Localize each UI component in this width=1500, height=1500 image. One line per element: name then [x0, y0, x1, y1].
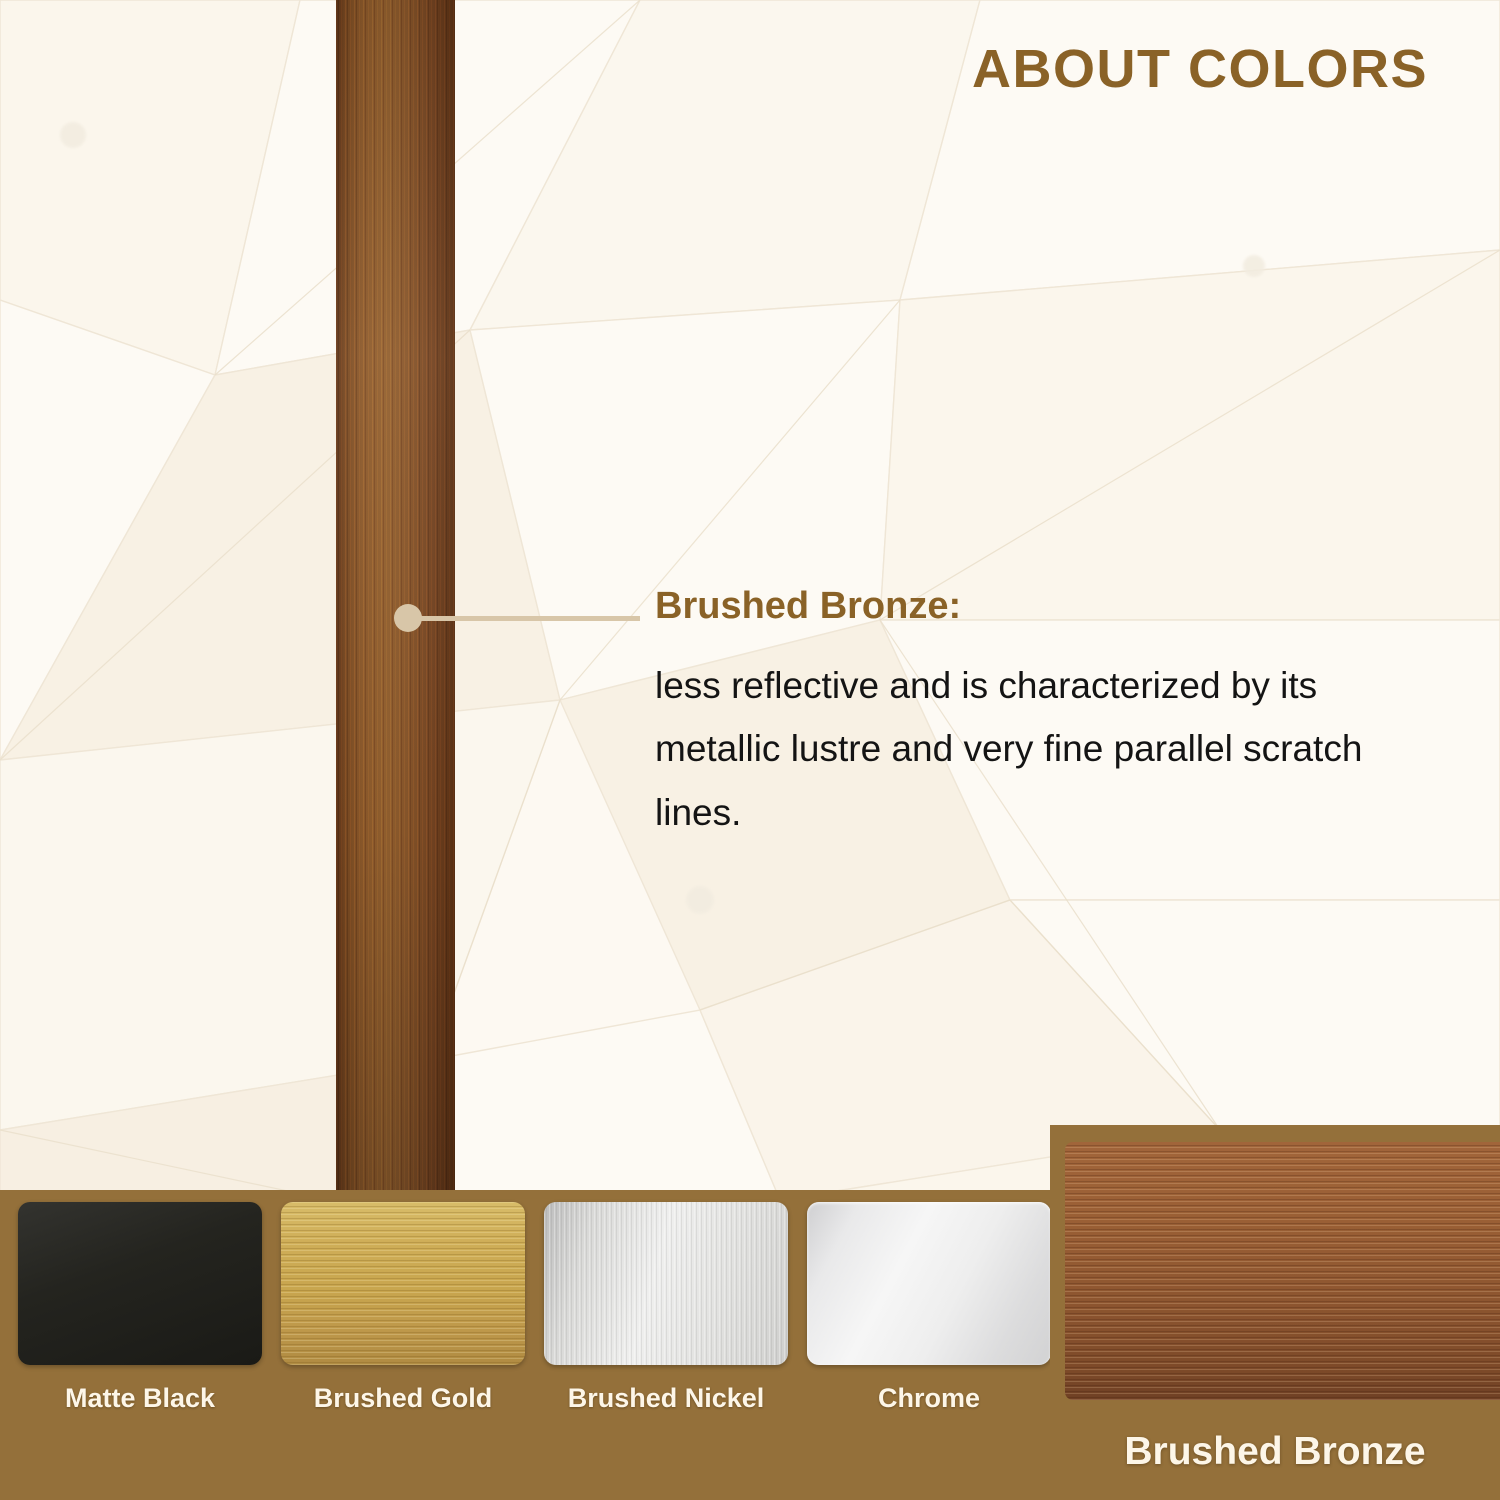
- page-title: ABOUT COLORS: [972, 38, 1428, 100]
- callout-text-block: Brushed Bronze: less reflective and is c…: [655, 586, 1425, 845]
- callout-body: less reflective and is characterized by …: [655, 654, 1425, 845]
- swatch-label-brushed-gold: Brushed Gold: [281, 1383, 525, 1414]
- swatch-chip-matte-black[interactable]: [18, 1202, 262, 1365]
- swatch-chip-chrome[interactable]: [807, 1202, 1051, 1365]
- bronze-bar-shading: [336, 0, 455, 1192]
- featured-swatch-chip-brushed-bronze[interactable]: [1065, 1142, 1500, 1400]
- swatch-chip-brushed-gold[interactable]: [281, 1202, 525, 1365]
- callout-heading: Brushed Bronze:: [655, 586, 1425, 628]
- swatch-brushed-nickel[interactable]: Brushed Nickel: [544, 1202, 788, 1414]
- featured-swatch-label: Brushed Bronze: [1050, 1430, 1500, 1474]
- swatch-label-chrome: Chrome: [807, 1383, 1051, 1414]
- swatch-chip-brushed-nickel[interactable]: [544, 1202, 788, 1365]
- swatch-brushed-gold[interactable]: Brushed Gold: [281, 1202, 525, 1414]
- color-swatch-strip: Matte Black Brushed Gold Brushed Nickel …: [0, 1190, 1060, 1500]
- swatch-matte-black[interactable]: Matte Black: [18, 1202, 262, 1414]
- swatch-chrome[interactable]: Chrome: [807, 1202, 1051, 1414]
- featured-swatch-brushed-bronze[interactable]: Brushed Bronze: [1050, 1125, 1500, 1500]
- swatch-label-matte-black: Matte Black: [18, 1383, 262, 1414]
- brushed-bronze-bar: [336, 0, 455, 1192]
- callout-marker-dot: [394, 604, 422, 632]
- swatch-label-brushed-nickel: Brushed Nickel: [544, 1383, 788, 1414]
- callout-leader-line: [408, 616, 640, 621]
- infographic-page: ABOUT COLORS Brushed Bronze: less reflec…: [0, 0, 1500, 1500]
